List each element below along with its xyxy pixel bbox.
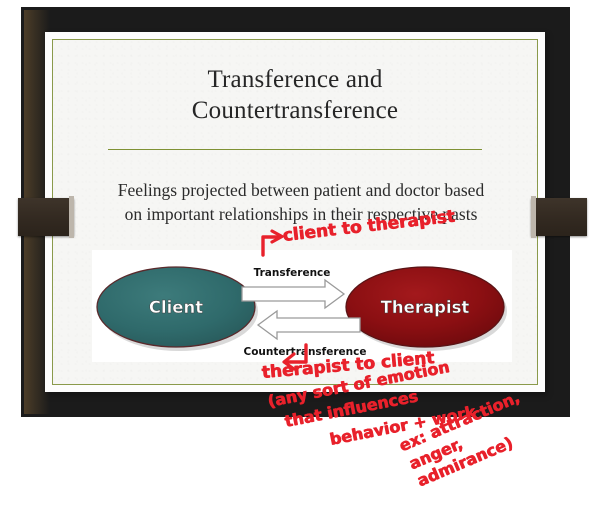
title-divider-rule — [108, 149, 482, 150]
diagram-label-transference: Transference — [254, 267, 331, 279]
diagram-arrow-countertransference — [258, 311, 360, 339]
diagram-label-countertransference: Countertransference — [243, 346, 366, 358]
slide-body-text: Feelings projected between patient and d… — [72, 178, 530, 226]
diagram-node-therapist-label: Therapist — [381, 298, 470, 317]
annotation-note-line-7: admirance) — [414, 433, 515, 490]
frame-clip-right-cap — [531, 196, 536, 238]
frame-clip-right — [531, 198, 587, 236]
slide-body-line-2: on important relationships in their resp… — [72, 202, 530, 226]
slide-title: Transference and Countertransference — [70, 64, 520, 126]
diagram-arrow-transference — [242, 280, 344, 308]
slide-title-line-1: Transference and — [70, 64, 520, 95]
slide-title-line-2: Countertransference — [70, 95, 520, 126]
screenshot-canvas: Transference and Countertransference Fee… — [0, 0, 605, 526]
annotation-note-line-6: anger, — [406, 434, 465, 473]
slide-body-line-1: Feelings projected between patient and d… — [72, 178, 530, 202]
diagram-node-client-label: Client — [149, 298, 203, 317]
frame-clip-left — [18, 198, 74, 236]
diagram-node-client: Client — [97, 267, 258, 351]
transference-diagram: Client Therapist Transference Countertra… — [92, 250, 512, 362]
diagram-node-therapist: Therapist — [346, 267, 507, 351]
